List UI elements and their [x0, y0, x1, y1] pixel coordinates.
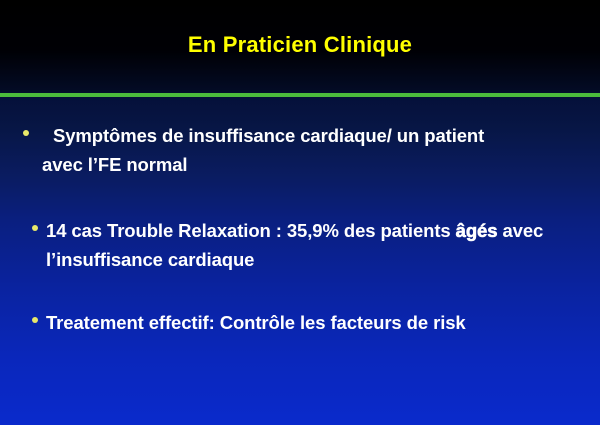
slide-title-band: En Praticien Clinique [0, 0, 600, 93]
list-item: 14 cas Trouble Relaxation : 35,9% des pa… [32, 216, 588, 274]
bullet-item-2-emphasis: âgés [456, 220, 498, 241]
bullet-item-1-text: Symptômes de insuffisance cardiaque/ un … [23, 121, 589, 179]
bullet-item-3-line-1: Treatement effectif: Contrôle les facteu… [46, 312, 466, 333]
slide-title: En Praticien Clinique [0, 32, 600, 58]
bullet-dot-icon [32, 225, 38, 231]
bullet-item-2-text: 14 cas Trouble Relaxation : 35,9% des pa… [32, 216, 588, 274]
bullet-item-2-line-1: 14 cas Trouble Relaxation : 35,9% des pa… [46, 220, 451, 241]
title-divider-rule [0, 93, 600, 97]
slide-bullet-list: Symptômes de insuffisance cardiaque/ un … [0, 104, 600, 425]
list-item: Symptômes de insuffisance cardiaque/ un … [23, 121, 589, 179]
bullet-item-1-line-2: avec l’FE normal [42, 150, 589, 179]
bullet-item-3-text: Treatement effectif: Contrôle les facteu… [32, 308, 588, 337]
presentation-slide: En Praticien Clinique Symptômes de insuf… [0, 0, 600, 425]
bullet-item-1-line-1: Symptômes de insuffisance cardiaque/ un … [53, 125, 484, 146]
bullet-dot-icon [32, 317, 38, 323]
bullet-dot-icon [23, 130, 29, 136]
list-item: Treatement effectif: Contrôle les facteu… [32, 308, 588, 337]
